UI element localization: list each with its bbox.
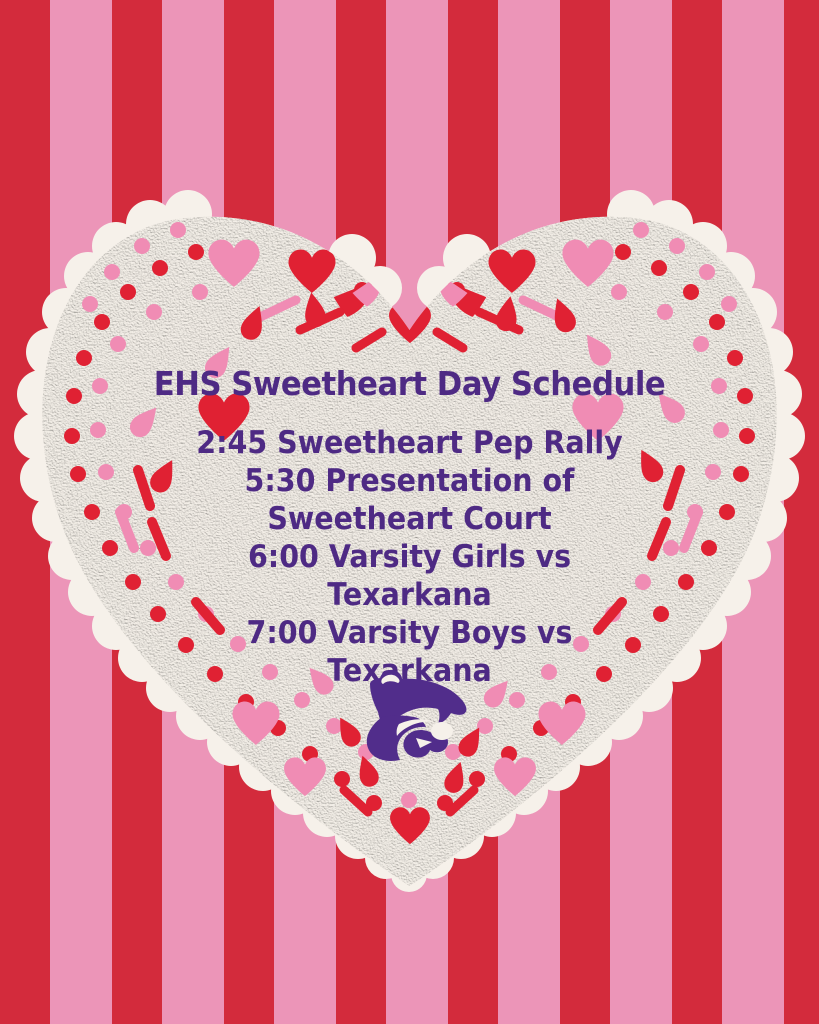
schedule-line: Texarkana: [33, 576, 786, 614]
schedule-list: 2:45 Sweetheart Pep Rally 5:30 Presentat…: [33, 424, 786, 690]
poster-canvas: EHS Sweetheart Day Schedule 2:45 Sweethe…: [0, 0, 819, 1024]
wildcat-powercat-logo: [352, 668, 468, 763]
page-title: EHS Sweetheart Day Schedule: [29, 364, 791, 404]
schedule-line: 7:00 Varsity Boys vs: [33, 614, 786, 652]
schedule-line: 5:30 Presentation of: [33, 462, 786, 500]
schedule-line: 6:00 Varsity Girls vs: [33, 538, 786, 576]
schedule-line: 2:45 Sweetheart Pep Rally: [33, 424, 786, 462]
wildcat-icon: [352, 668, 468, 763]
schedule-line: Sweetheart Court: [33, 500, 786, 538]
